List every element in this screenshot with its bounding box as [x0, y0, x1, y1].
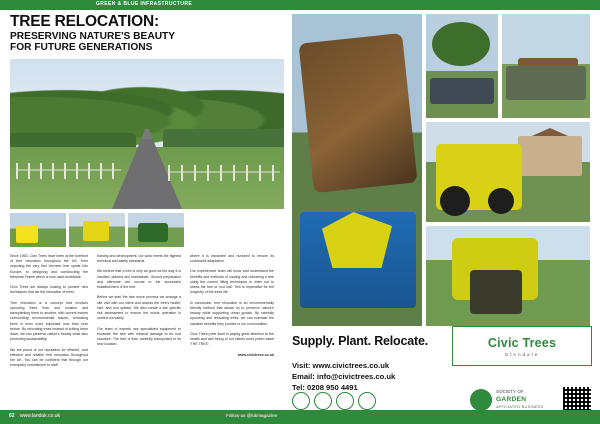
- section-label: GREEN & BLUE INFRASTRUCTURE: [96, 1, 192, 7]
- paragraph: Civic Trees pride itself in paying great…: [190, 332, 274, 348]
- hero-photo-tree-lined-driveway: [10, 59, 284, 209]
- thumbnail-machine-field: [69, 213, 125, 247]
- paragraph: We are proud of our reputation for effic…: [10, 348, 88, 369]
- page-number: 62: [9, 413, 15, 419]
- paragraph: In conclusion, tree relocation is an env…: [190, 301, 274, 327]
- paragraph: training and development, our work meets…: [97, 254, 181, 265]
- contact-website[interactable]: Visit: www.civictrees.co.uk: [292, 360, 592, 371]
- section-header-bar: GREEN & BLUE INFRASTRUCTURE: [0, 0, 600, 10]
- article-column: TREE RELOCATION: PRESERVING NATURE'S BEA…: [10, 14, 284, 412]
- text-column-1: Since 1963, Civic Trees have been at the…: [10, 254, 88, 374]
- sgd-logo-icon: [470, 389, 492, 411]
- page-subtitle: PRESERVING NATURE'S BEAUTY FOR FUTURE GE…: [10, 31, 284, 53]
- brand-sub: Glendale: [505, 352, 539, 357]
- accreditation-badge-icon: [358, 392, 376, 410]
- photo-tree-spade-lifting-tree: [292, 14, 422, 326]
- paragraph: We believe that a tree is only as good a…: [97, 269, 181, 290]
- photo-gallery: [292, 14, 590, 326]
- paragraph: Tree relocation is a concept that involv…: [10, 301, 88, 343]
- footer-follow: Follow us @lukmagazine: [226, 413, 277, 418]
- thumbnail-planting: [128, 213, 184, 247]
- sgd-line-main: GARDEN: [496, 396, 526, 403]
- subtitle-line-2: FOR FUTURE GENERATIONS: [10, 42, 152, 53]
- accreditation-badge-icon: [336, 392, 354, 410]
- paragraph: Since 1963, Civic Trees have been at the…: [10, 254, 88, 280]
- contact-email[interactable]: Email: info@civictrees.co.uk: [292, 371, 592, 382]
- accreditation-badge-icon: [292, 392, 310, 410]
- text-columns: Since 1963, Civic Trees have been at the…: [10, 254, 284, 374]
- sgd-line-top: SOCIETY OF: [496, 389, 524, 394]
- photo-timber-lorry: [502, 14, 590, 118]
- paragraph: where it is replanted and nurtured to en…: [190, 254, 274, 265]
- article-weblink[interactable]: www.civictrees.co.uk: [190, 353, 274, 357]
- sgd-line-note: AFFILIATED BUSINESS: [496, 404, 544, 409]
- text-column-3: where it is replanted and nurtured to en…: [190, 254, 274, 374]
- photo-tree-spade-planting-at-house: [426, 122, 590, 222]
- footer-website[interactable]: www.landuk.co.uk: [20, 413, 60, 419]
- paragraph: Our experienced team will know and under…: [190, 269, 274, 295]
- page-footer-bar: 62 www.landuk.co.uk Follow us @lukmagazi…: [0, 410, 600, 424]
- thumbnail-tree-spade: [10, 213, 66, 247]
- text-column-2: training and development, our work meets…: [97, 254, 181, 374]
- paragraph: Civic Trees are always looking to pionee…: [10, 285, 88, 296]
- brand-name: Civic Trees: [488, 336, 556, 350]
- paragraph: Before we start the tree move process we…: [97, 295, 181, 321]
- paragraph: Our team of experts use specialised equi…: [97, 327, 181, 348]
- photo-tree-spade-grab-closeup: [426, 226, 590, 326]
- subtitle-line-1: PRESERVING NATURE'S BEAUTY: [10, 31, 175, 42]
- photo-tree-on-lorry: [426, 14, 498, 118]
- accreditation-badge-icon: [314, 392, 332, 410]
- magazine-spread: GREEN & BLUE INFRASTRUCTURE TREE RELOCAT…: [0, 0, 600, 424]
- thumbnail-row: [10, 213, 284, 247]
- page-title: TREE RELOCATION:: [10, 14, 284, 30]
